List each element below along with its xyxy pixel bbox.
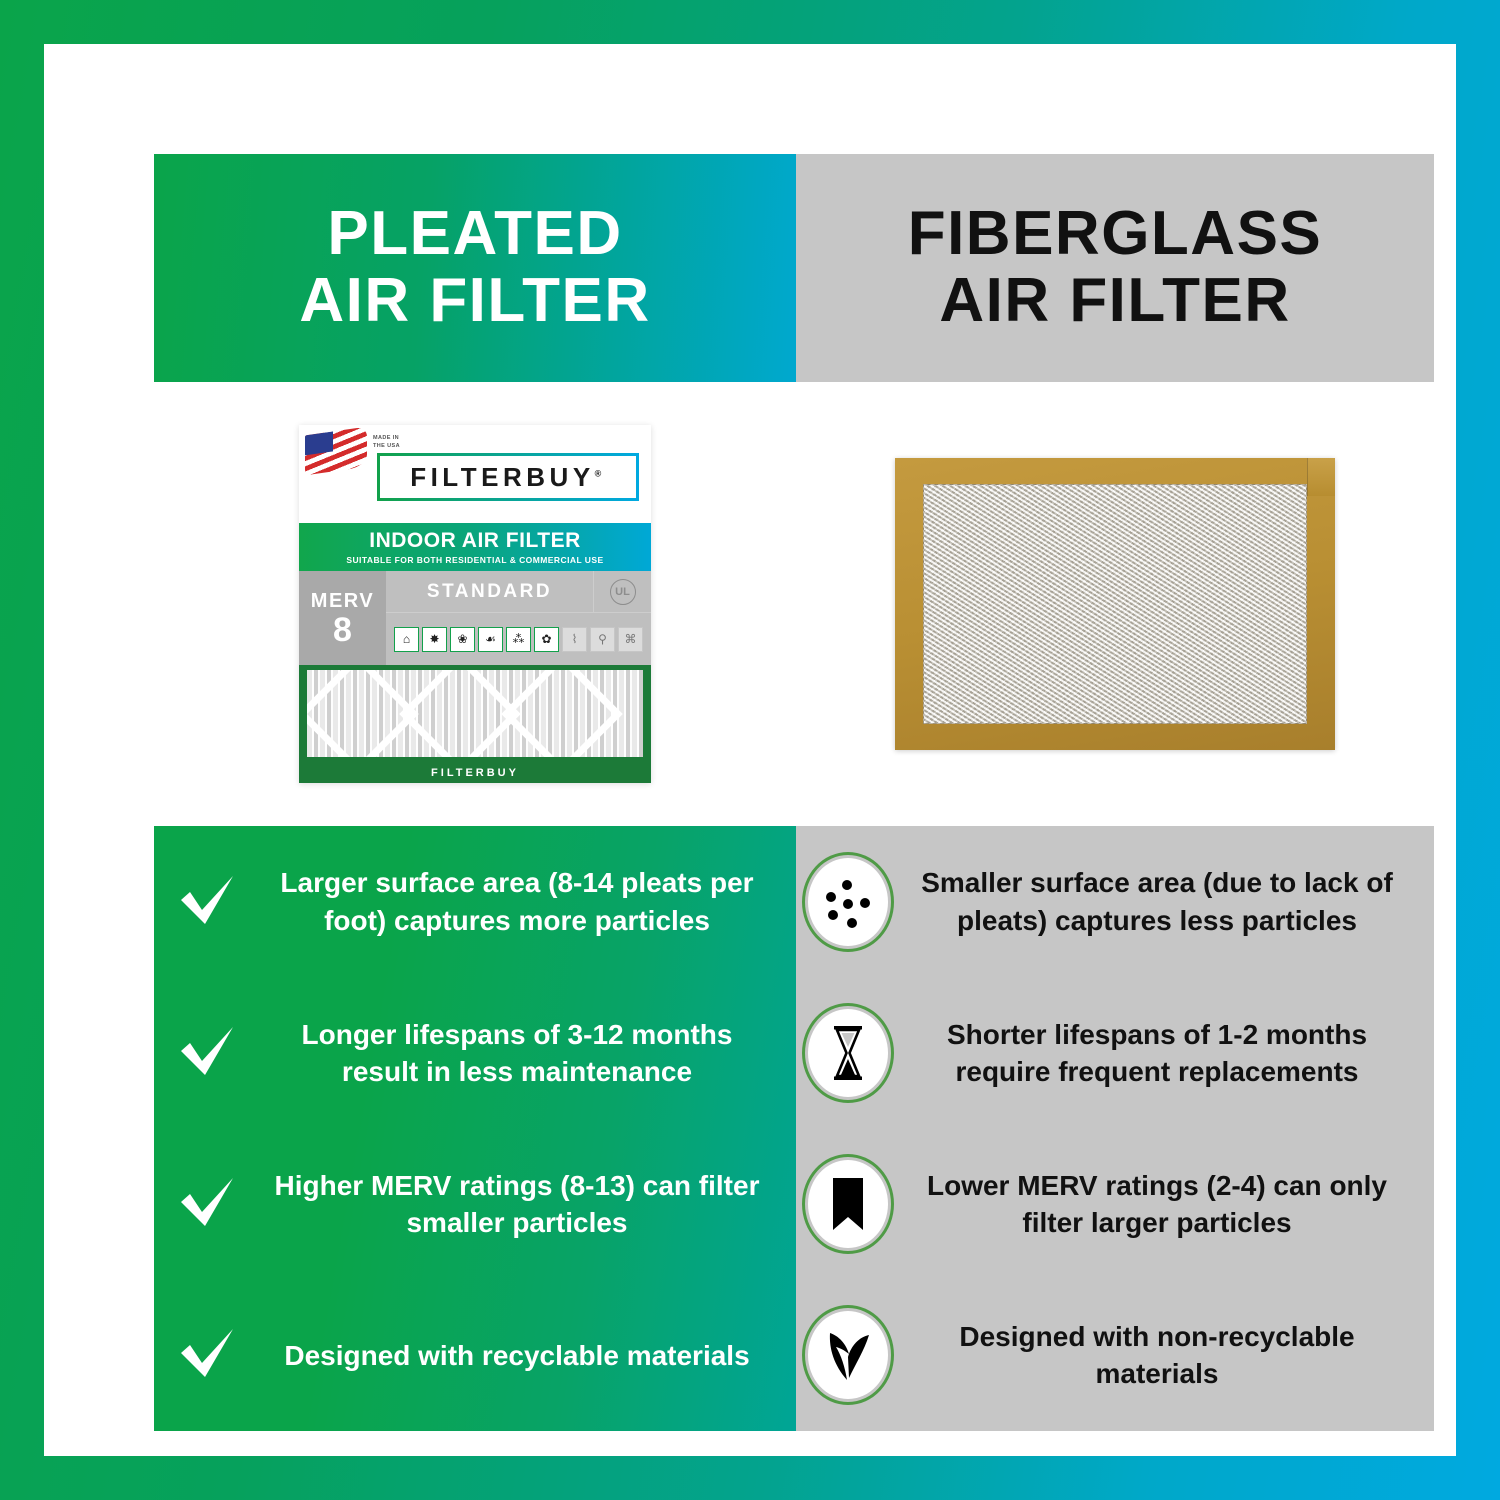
pleated-benefit-text: Higher MERV ratings (8-13) can filter sm… (262, 1167, 796, 1241)
pleated-label-top: MADE IN THE USA FILTERBUY® (299, 425, 651, 523)
header-fiberglass-title: FIBERGLASS AIR FILTER (908, 201, 1323, 335)
filterbuy-wordmark: FILTERBUY® (410, 462, 606, 493)
header-bar: PLEATED AIR FILTER FIBERGLASS AIR FILTER (154, 154, 1434, 382)
fiberglass-drawback-text: Designed with non-recyclable materials (900, 1318, 1434, 1392)
grade-label: STANDARD (386, 571, 593, 612)
header-pleated-title: PLEATED AIR FILTER (299, 201, 650, 335)
comparison-rows: Larger surface area (8-14 pleats per foo… (154, 826, 1434, 1431)
comparison-row: Larger surface area (8-14 pleats per foo… (154, 826, 1434, 977)
check-icon (154, 1025, 262, 1081)
merv-badge: MERV 8 (299, 571, 386, 665)
row-icon-cell (796, 1154, 900, 1254)
pleated-benefit-text: Larger surface area (8-14 pleats per foo… (262, 864, 796, 938)
mold-icon: ☙ (478, 627, 503, 652)
dust-mites-icon: ✸ (422, 627, 447, 652)
household-dust-icon: ⌂ (394, 627, 419, 652)
row-icon-cell (796, 1003, 900, 1103)
smoke-icon: ⌇ (562, 627, 587, 652)
merv-label: MERV (311, 590, 374, 613)
comparison-row: Longer lifespans of 3-12 months result i… (154, 977, 1434, 1128)
pet-dander-icon: ✿ (534, 627, 559, 652)
particle-dots (820, 874, 876, 930)
particles-icon (808, 858, 888, 946)
check-icon (154, 1176, 262, 1232)
pleated-filter-cell: MADE IN THE USA FILTERBUY® INDOOR AIR FI… (154, 382, 796, 826)
icon-ring (802, 1154, 894, 1254)
indoor-air-filter-band: INDOOR AIR FILTER SUITABLE FOR BOTH RESI… (299, 523, 651, 571)
bacteria-icon: ⚲ (590, 627, 615, 652)
fiberglass-drawback-text: Shorter lifespans of 1-2 months require … (900, 1016, 1434, 1090)
fiberglass-filter-image (895, 458, 1335, 750)
filterbuy-logo: FILTERBUY® (377, 453, 639, 501)
usa-flag-icon (305, 427, 367, 476)
pleated-media: FILTERBUY (299, 665, 651, 783)
page-surface: PLEATED AIR FILTER FIBERGLASS AIR FILTER… (44, 44, 1456, 1456)
bookmark-icon (808, 1160, 888, 1248)
row-icon-cell (796, 852, 900, 952)
media-footer-brand: FILTERBUY (299, 767, 651, 779)
pleated-filter-image: MADE IN THE USA FILTERBUY® INDOOR AIR FI… (299, 425, 651, 783)
grade-row: STANDARD UL (386, 571, 651, 613)
leaf-icon (808, 1311, 888, 1399)
band-subtitle: SUITABLE FOR BOTH RESIDENTIAL & COMMERCI… (299, 555, 651, 565)
comparison-row: Higher MERV ratings (8-13) can filter sm… (154, 1129, 1434, 1280)
header-fiberglass: FIBERGLASS AIR FILTER (796, 154, 1434, 382)
pleated-benefit-text: Longer lifespans of 3-12 months result i… (262, 1016, 796, 1090)
spec-main: STANDARD UL ⌂ ✸ ❀ ☙ ⁂ (386, 571, 651, 665)
pollen-icon: ❀ (450, 627, 475, 652)
capability-icon-strip: ⌂ ✸ ❀ ☙ ⁂ ✿ ⌇ ⚲ ⌘ (386, 613, 651, 665)
made-in-usa-text: MADE IN THE USA (373, 434, 400, 451)
check-icon (154, 1327, 262, 1383)
merv-value: 8 (333, 613, 352, 647)
fiberglass-drawback-text: Lower MERV ratings (2-4) can only filter… (900, 1167, 1434, 1241)
row-icon-cell (796, 1305, 900, 1405)
spec-strip: MERV 8 STANDARD UL ⌂ (299, 571, 651, 665)
support-grid (307, 670, 643, 757)
band-title: INDOOR AIR FILTER (299, 529, 651, 553)
icon-ring (802, 1003, 894, 1103)
hourglass-icon (808, 1009, 888, 1097)
ul-mark-icon: UL (610, 579, 636, 605)
fiberglass-media (923, 484, 1307, 724)
comparison-panel: Larger surface area (8-14 pleats per foo… (154, 826, 1434, 1431)
comparison-row: Designed with recyclable materials Desig (154, 1280, 1434, 1431)
virus-icon: ⌘ (618, 627, 643, 652)
ul-certification: UL (593, 571, 651, 612)
icon-ring (802, 852, 894, 952)
fiberglass-drawback-text: Smaller surface area (due to lack of ple… (900, 864, 1434, 938)
fiberglass-filter-cell (796, 382, 1434, 826)
pleated-benefit-text: Designed with recyclable materials (262, 1337, 796, 1374)
product-band: MADE IN THE USA FILTERBUY® INDOOR AIR FI… (154, 382, 1434, 826)
frame-notch (1307, 458, 1335, 496)
header-pleated: PLEATED AIR FILTER (154, 154, 796, 382)
gradient-frame: PLEATED AIR FILTER FIBERGLASS AIR FILTER… (0, 0, 1500, 1500)
check-icon (154, 874, 262, 930)
icon-ring (802, 1305, 894, 1405)
lint-icon: ⁂ (506, 627, 531, 652)
